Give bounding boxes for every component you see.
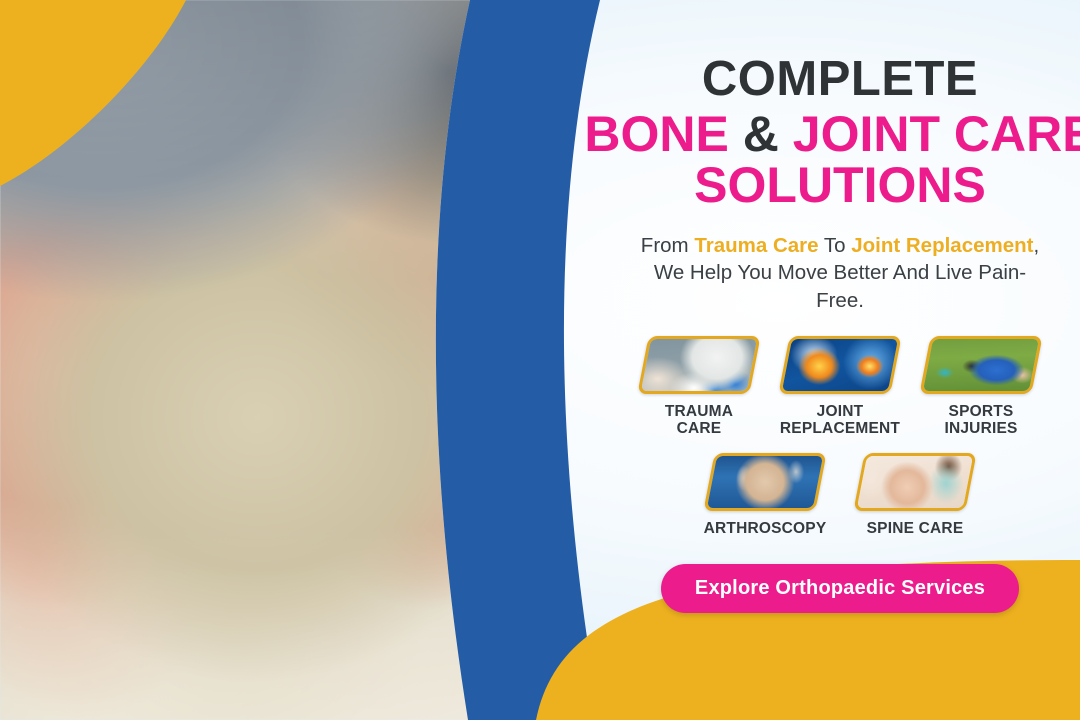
service-cards-row-1: TRAUMA CARE JOINT REPLACEMENT SPORTS bbox=[637, 336, 1043, 438]
spine-care-label: SPINE CARE bbox=[867, 520, 964, 537]
photo-tint-overlay bbox=[0, 0, 560, 720]
subtitle-highlight-trauma-care: Trauma Care bbox=[694, 234, 818, 257]
service-card-label: JOINT REPLACEMENT bbox=[780, 403, 900, 438]
service-card-label: TRAUMA CARE bbox=[665, 403, 733, 438]
headline: COMPLETE BONE & JOINT CARE SOLUTIONS bbox=[584, 55, 1080, 210]
arthroscopy-label: ARTHROSCOPY bbox=[704, 520, 827, 537]
content-panel: COMPLETE BONE & JOINT CARE SOLUTIONS Fro… bbox=[600, 0, 1080, 720]
sports-injuries-thumbnail[interactable] bbox=[919, 336, 1042, 394]
sports-injuries-label-line-1: SPORTS bbox=[949, 403, 1014, 420]
subtitle-segment-2: To bbox=[819, 234, 852, 257]
service-card-sports-injuries[interactable]: SPORTS INJURIES bbox=[919, 336, 1043, 438]
service-card-label: ARTHROSCOPY bbox=[704, 520, 827, 537]
service-card-arthroscopy[interactable]: ARTHROSCOPY bbox=[700, 453, 830, 537]
subtitle-segment-1: From bbox=[641, 234, 695, 257]
sports-injuries-label-line-2: INJURIES bbox=[944, 420, 1017, 437]
injured-athlete-icon bbox=[919, 336, 1042, 394]
blue-crescent-shape bbox=[436, 0, 600, 720]
service-card-label: SPORTS INJURIES bbox=[944, 403, 1017, 438]
headline-line-2: BONE & JOINT CARE bbox=[584, 110, 1080, 159]
knee-arthroscopy-icon bbox=[703, 453, 826, 511]
service-card-trauma-care[interactable]: TRAUMA CARE bbox=[637, 336, 761, 438]
joint-replacement-label-line-2: REPLACEMENT bbox=[780, 420, 900, 437]
headline-line-1: COMPLETE bbox=[584, 55, 1080, 103]
bandaged-foot-icon bbox=[637, 336, 760, 394]
headline-joint-care-words: JOINT CARE bbox=[793, 106, 1080, 162]
arthroscopy-thumbnail[interactable] bbox=[703, 453, 826, 511]
trauma-care-thumbnail[interactable] bbox=[637, 336, 760, 394]
subtitle: From Trauma Care To Joint Replacement, W… bbox=[640, 232, 1040, 314]
joint-replacement-thumbnail[interactable] bbox=[778, 336, 901, 394]
joint-replacement-label-line-1: JOINT bbox=[817, 403, 864, 420]
hero-image bbox=[0, 0, 560, 720]
service-card-joint-replacement[interactable]: JOINT REPLACEMENT bbox=[775, 336, 905, 438]
spine-examination-icon bbox=[853, 453, 976, 511]
trauma-care-label-line-1: TRAUMA bbox=[665, 403, 733, 420]
knee-implant-icon bbox=[778, 336, 901, 394]
spine-care-thumbnail[interactable] bbox=[853, 453, 976, 511]
headline-ampersand: & bbox=[743, 106, 779, 162]
headline-bone-word: BONE bbox=[584, 106, 728, 162]
promo-banner: COMPLETE BONE & JOINT CARE SOLUTIONS Fro… bbox=[0, 0, 1080, 720]
headline-line-3: SOLUTIONS bbox=[584, 161, 1080, 210]
service-cards-row-2: ARTHROSCOPY SPINE CARE bbox=[700, 453, 980, 537]
service-card-spine-care[interactable]: SPINE CARE bbox=[850, 453, 980, 537]
explore-orthopaedic-services-button[interactable]: Explore Orthopaedic Services bbox=[661, 564, 1019, 613]
trauma-care-label-line-2: CARE bbox=[677, 420, 722, 437]
service-card-label: SPINE CARE bbox=[867, 520, 964, 537]
subtitle-highlight-joint-replacement: Joint Replacement bbox=[851, 234, 1033, 257]
